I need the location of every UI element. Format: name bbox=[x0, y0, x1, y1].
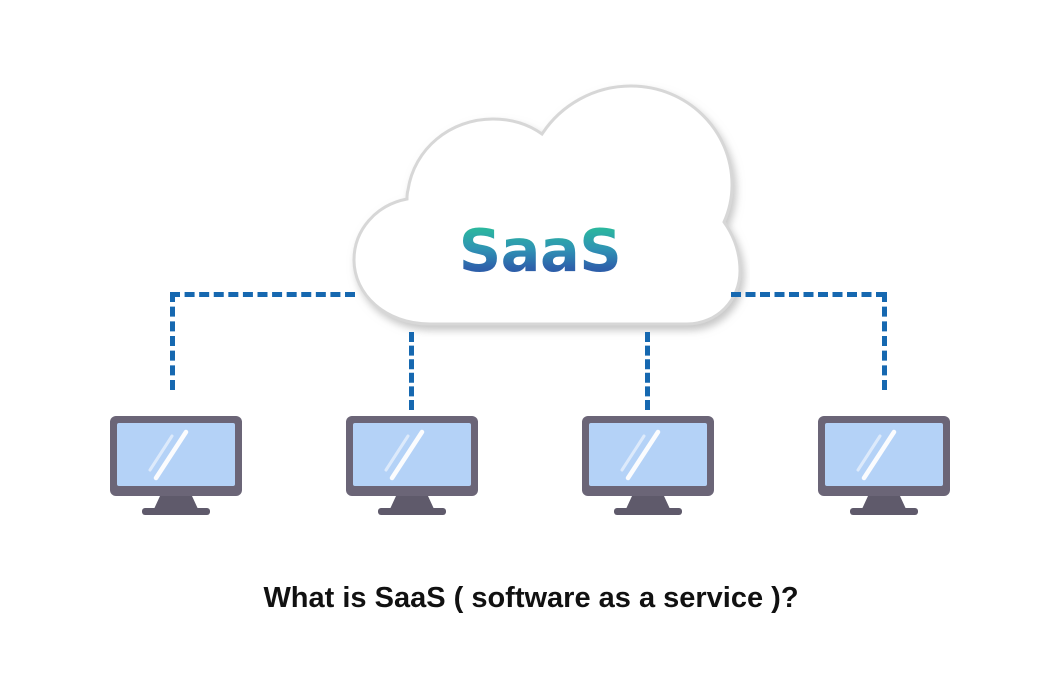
cloud-shape: SaaS bbox=[330, 78, 750, 348]
monitor-screen bbox=[825, 423, 943, 486]
monitor-stand-base bbox=[142, 508, 210, 515]
connector-vertical-client-1 bbox=[170, 292, 175, 390]
client-monitor-1[interactable] bbox=[108, 414, 244, 518]
monitor-screen bbox=[589, 423, 707, 486]
monitor-stand-base bbox=[850, 508, 918, 515]
connector-vertical-client-4 bbox=[882, 292, 887, 390]
cloud-path bbox=[354, 86, 740, 324]
client-monitor-2[interactable] bbox=[344, 414, 480, 518]
monitor-screen bbox=[353, 423, 471, 486]
monitor-stand-base bbox=[378, 508, 446, 515]
client-monitor-4[interactable] bbox=[816, 414, 952, 518]
monitor-screen bbox=[117, 423, 235, 486]
connector-horizontal-left bbox=[170, 292, 355, 297]
connector-vertical-client-2 bbox=[409, 332, 414, 410]
diagram-caption: What is SaaS ( software as a service )? bbox=[0, 582, 1062, 615]
client-monitor-3[interactable] bbox=[580, 414, 716, 518]
monitor-stand-neck bbox=[390, 496, 434, 509]
monitor-stand-base bbox=[614, 508, 682, 515]
diagram-canvas: SaaS bbox=[0, 0, 1062, 681]
connector-horizontal-right bbox=[731, 292, 886, 297]
monitor-stand-neck bbox=[154, 496, 198, 509]
monitor-stand-neck bbox=[626, 496, 670, 509]
monitor-stand-neck bbox=[862, 496, 906, 509]
connector-vertical-client-3 bbox=[645, 332, 650, 410]
